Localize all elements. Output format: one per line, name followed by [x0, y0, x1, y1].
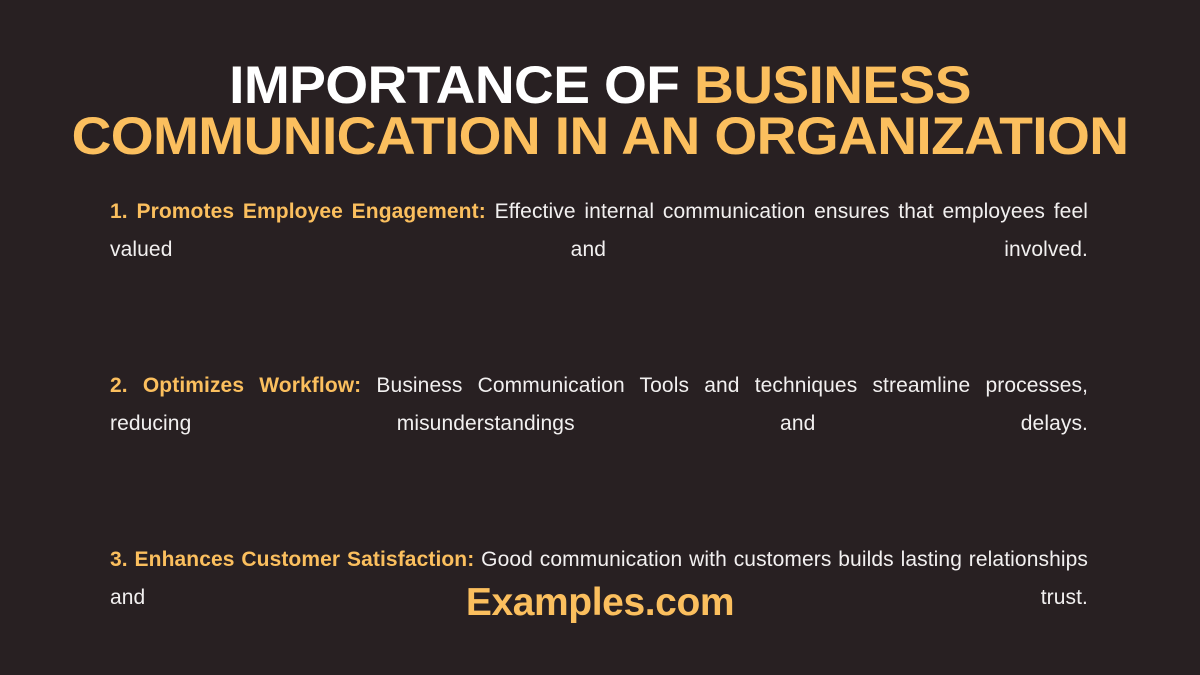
- list-item-text: 2. Optimizes Workflow: Business Communic…: [110, 367, 1088, 481]
- list-item-heading: 1. Promotes Employee Engagement:: [110, 200, 486, 223]
- list-item-heading: 3. Enhances Customer Satisfaction:: [110, 548, 474, 571]
- brand-wordmark: Examples.com: [466, 580, 734, 626]
- list-item-heading: 2. Optimizes Workflow:: [110, 374, 361, 397]
- poster-canvas: IMPORTANCE OF BUSINESS COMMUNICATION IN …: [0, 0, 1200, 675]
- title-line-1: IMPORTANCE OF BUSINESS: [11, 62, 1188, 110]
- page-title: IMPORTANCE OF BUSINESS COMMUNICATION IN …: [0, 0, 1200, 161]
- title-line-2: COMMUNICATION IN AN ORGANIZATION: [11, 113, 1188, 161]
- footer: Examples.com: [0, 580, 1200, 626]
- list-item: 2. Optimizes Workflow: Business Communic…: [110, 367, 1088, 481]
- list-item: 1. Promotes Employee Engagement: Effecti…: [110, 193, 1088, 307]
- list-item-text: 1. Promotes Employee Engagement: Effecti…: [110, 193, 1088, 307]
